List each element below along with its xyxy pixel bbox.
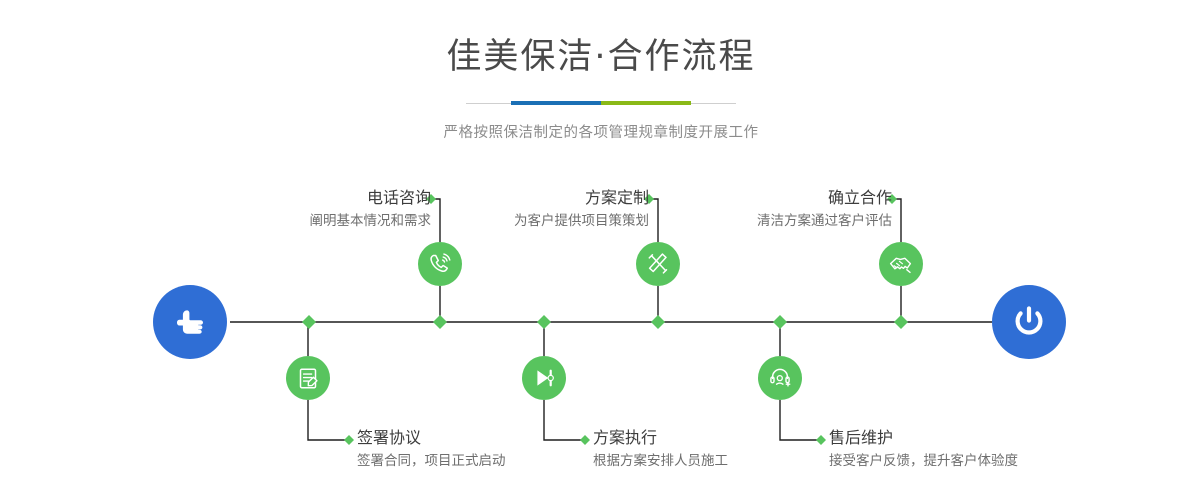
- handshake-icon: [888, 251, 915, 278]
- elbow-step-5: [896, 199, 901, 242]
- spine-diamond-2: [433, 315, 447, 329]
- pen-design-icon: [645, 251, 671, 277]
- flow-chart-page: 佳美保洁·合作流程 严格按照保洁制定的各项管理规章制度开展工作: [0, 0, 1202, 502]
- flow-end-node[interactable]: [992, 285, 1066, 359]
- label-diamond-step-2: [344, 435, 354, 445]
- step-label-3: 方案定制 为客户提供项目策策划: [393, 188, 649, 231]
- pointing-hand-icon: [170, 302, 210, 342]
- step-title-3: 方案定制: [393, 188, 649, 208]
- step-label-5: 确立合作 清洁方案通过客户评估: [636, 188, 892, 231]
- play-skip-icon: [531, 365, 557, 391]
- step-desc-3: 为客户提供项目策策划: [393, 211, 649, 231]
- spine-diamond-1: [302, 315, 316, 329]
- process-flow-diagram: 电话咨询 阐明基本情况和需求 方案定制 为客户提供项目策策划: [0, 0, 1202, 502]
- flow-start-node[interactable]: [153, 285, 227, 359]
- step-desc-6: 接受客户反馈，提升客户体验度: [829, 451, 1149, 471]
- step-node-5[interactable]: [879, 242, 923, 286]
- step-node-1[interactable]: [418, 242, 462, 286]
- spine-diamond-6: [894, 315, 908, 329]
- step-node-3[interactable]: [636, 242, 680, 286]
- connector-wires: [0, 0, 1202, 502]
- spine-diamond-4: [651, 315, 665, 329]
- step-node-2[interactable]: [286, 356, 330, 400]
- phone-call-icon: [427, 251, 453, 277]
- label-diamonds: [344, 194, 897, 445]
- power-icon: [1008, 301, 1050, 343]
- document-edit-icon: [296, 366, 321, 391]
- step-title-5: 确立合作: [636, 188, 892, 208]
- step-label-6: 售后维护 接受客户反馈，提升客户体验度: [829, 428, 1149, 471]
- elbow-step-2: [308, 400, 345, 440]
- step-title-6: 售后维护: [829, 428, 1149, 448]
- step-desc-5: 清洁方案通过客户评估: [636, 211, 892, 231]
- step-node-4[interactable]: [522, 356, 566, 400]
- customer-service-add-icon: [767, 365, 793, 391]
- step-node-6[interactable]: [758, 356, 802, 400]
- spine-diamond-3: [537, 315, 551, 329]
- spine-diamond-5: [773, 315, 787, 329]
